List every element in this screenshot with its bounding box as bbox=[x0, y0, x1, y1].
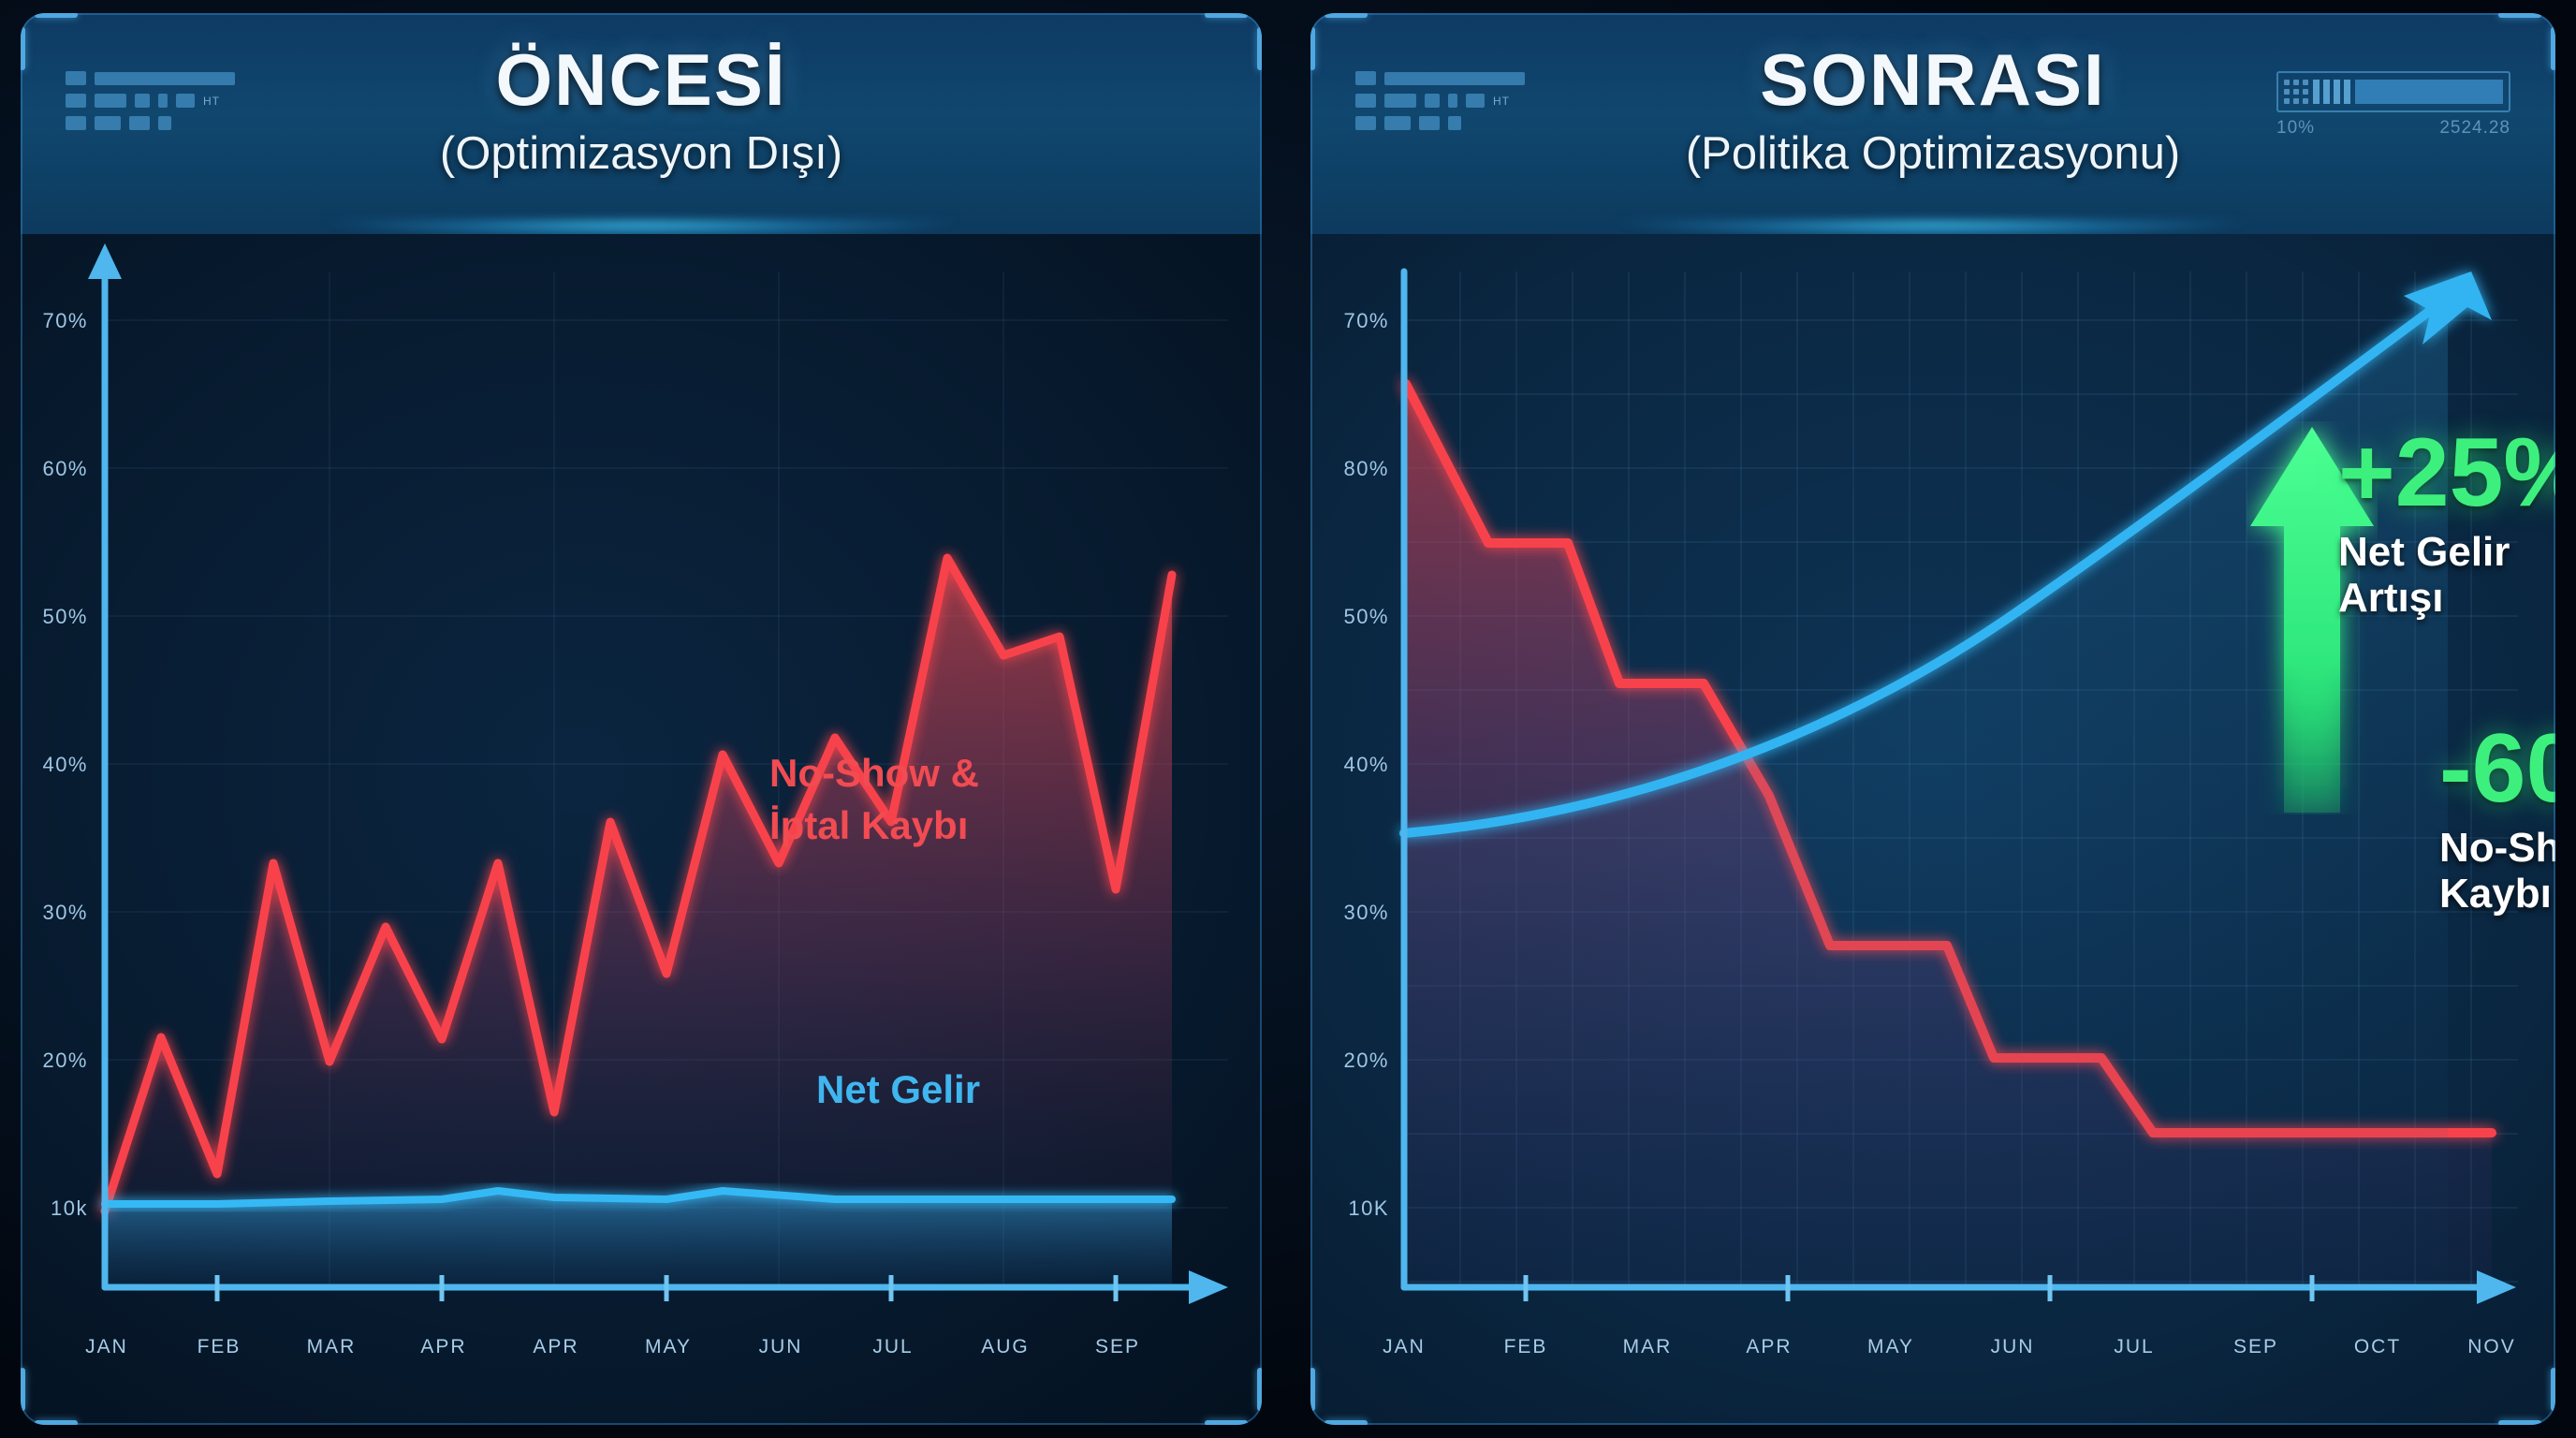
y-tick-label: 30% bbox=[42, 901, 88, 924]
hud-tag-left: HT bbox=[203, 95, 220, 108]
callout-no-show-down: -60% No-Show Kaybı bbox=[2439, 723, 2555, 917]
hud-meter-percent: 10% bbox=[2276, 118, 2315, 139]
y-tick-label: 40% bbox=[42, 753, 88, 776]
chart-before-y-labels: 70% 60% 50% 40% 30% 20% 10k bbox=[42, 309, 88, 1220]
chart-after-y-labels: 70% 80% 50% 40% 30% 20% 10K bbox=[1343, 309, 1389, 1220]
series-label-no-show-line2: İptal Kaybı bbox=[769, 803, 968, 847]
callout-label-down-line2: Kaybı bbox=[2439, 871, 2555, 917]
y-tick-label: 60% bbox=[42, 457, 88, 480]
x-tick-label: OCT bbox=[2354, 1336, 2401, 1357]
x-tick-label: JAN bbox=[1383, 1336, 1426, 1357]
chart-after: 70% 80% 50% 40% 30% 20% 10K JAN FEB MAR … bbox=[1310, 234, 2555, 1425]
x-tick-label: FEB bbox=[198, 1336, 241, 1357]
x-tick-label: NOV bbox=[2467, 1336, 2516, 1357]
x-tick-label: APR bbox=[420, 1336, 466, 1357]
chart-after-x-labels: JAN FEB MAR APR MAY JUN JUL SEP OCT NOV bbox=[1383, 1336, 2516, 1357]
series-label-net-gelir: Net Gelir bbox=[816, 1067, 980, 1111]
y-tick-label: 20% bbox=[1343, 1049, 1389, 1072]
y-tick-label: 10k bbox=[51, 1196, 88, 1220]
hud-meter-widget: 10% 2524.28 bbox=[2276, 71, 2510, 139]
series-label-no-show-line1: No-Show & bbox=[769, 751, 979, 795]
callout-net-revenue-up: +25% Net Gelir Artışı bbox=[2338, 427, 2555, 621]
x-tick-label: AUG bbox=[981, 1336, 1030, 1357]
x-tick-label: FEB bbox=[1504, 1336, 1548, 1357]
hud-blocks-decoration-left: HT bbox=[66, 71, 235, 139]
hud-meter-dot-matrix-icon bbox=[2284, 80, 2308, 104]
x-tick-label: JUN bbox=[1991, 1336, 2035, 1357]
x-tick-label: APR bbox=[533, 1336, 578, 1357]
chart-before-x-labels: JAN FEB MAR APR APR MAY JUN JUL AUG SEP bbox=[85, 1336, 1140, 1357]
y-tick-label: 50% bbox=[1343, 605, 1389, 628]
callout-label-down-line1: No-Show bbox=[2439, 825, 2555, 871]
panel-before-header: HT ÖNCESİ (Optimizasyon Dışı) bbox=[21, 13, 1262, 234]
hud-tag-right: HT bbox=[1493, 95, 1510, 108]
panel-before: HT ÖNCESİ (Optimizasyon Dışı) bbox=[21, 13, 1262, 1425]
hud-meter-frame bbox=[2276, 71, 2510, 112]
y-tick-label: 50% bbox=[42, 605, 88, 628]
infographic-stage: HT ÖNCESİ (Optimizasyon Dışı) bbox=[0, 0, 2576, 1438]
y-tick-label: 30% bbox=[1343, 901, 1389, 924]
x-tick-label: MAR bbox=[1623, 1336, 1673, 1357]
callout-value-down: -60% bbox=[2439, 723, 2555, 815]
y-tick-label: 40% bbox=[1343, 753, 1389, 776]
hud-blocks-decoration-right: HT bbox=[1355, 71, 1525, 139]
y-tick-label: 70% bbox=[42, 309, 88, 332]
panel-before-body: 70% 60% 50% 40% 30% 20% 10k JAN FEB MAR … bbox=[21, 234, 1262, 1425]
y-tick-label: 70% bbox=[1343, 309, 1389, 332]
x-tick-label: JAN bbox=[85, 1336, 128, 1357]
y-tick-label: 10K bbox=[1348, 1196, 1389, 1220]
x-tick-label: JUN bbox=[759, 1336, 803, 1357]
x-tick-label: SEP bbox=[2233, 1336, 2278, 1357]
x-tick-label: JUL bbox=[872, 1336, 913, 1357]
hud-meter-value: 2524.28 bbox=[2439, 118, 2510, 139]
y-tick-label: 20% bbox=[42, 1049, 88, 1072]
x-tick-label: MAY bbox=[1867, 1336, 1914, 1357]
x-tick-label: APR bbox=[1746, 1336, 1792, 1357]
hud-meter-progress-fill bbox=[2355, 80, 2503, 104]
panel-after-body: 70% 80% 50% 40% 30% 20% 10K JAN FEB MAR … bbox=[1310, 234, 2555, 1425]
callout-label-up-line2: Artışı bbox=[2338, 575, 2555, 621]
x-tick-label: MAR bbox=[307, 1336, 357, 1357]
callout-value-up: +25% bbox=[2338, 427, 2555, 520]
x-tick-label: JUL bbox=[2114, 1336, 2154, 1357]
y-tick-label: 80% bbox=[1343, 457, 1389, 480]
panel-after: HT 10% bbox=[1310, 13, 2555, 1425]
x-tick-label: MAY bbox=[645, 1336, 692, 1357]
hud-meter-legend: 10% 2524.28 bbox=[2276, 118, 2510, 139]
chart-before: 70% 60% 50% 40% 30% 20% 10k JAN FEB MAR … bbox=[21, 234, 1262, 1425]
x-tick-label: SEP bbox=[1095, 1336, 1140, 1357]
hud-meter-ticks bbox=[2313, 80, 2350, 104]
callout-label-up-line1: Net Gelir bbox=[2338, 529, 2555, 575]
panel-after-header: HT 10% bbox=[1310, 13, 2555, 234]
